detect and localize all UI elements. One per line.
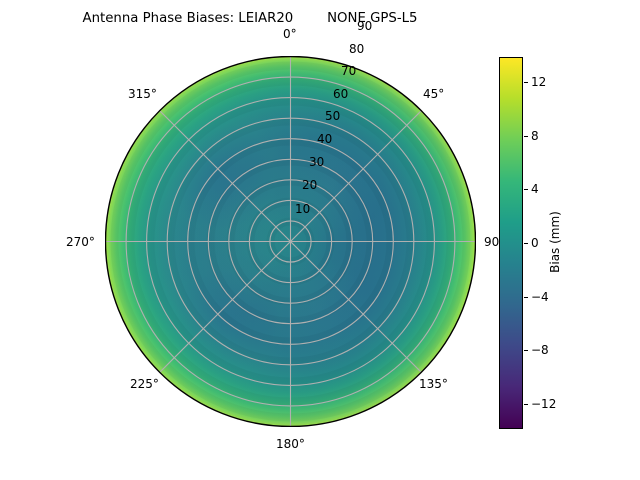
theta-tick-label-90: 90	[484, 235, 499, 249]
colorbar-tick-1	[524, 136, 528, 137]
r-tick-label-10: 10	[295, 202, 310, 216]
polar-grid-spokes	[106, 57, 476, 427]
page-title: Antenna Phase Biases: LEIAR20 NONE GPS-L…	[0, 11, 500, 26]
colorbar-tick-label-5: −8	[531, 343, 549, 357]
colorbar-tick-5	[524, 350, 528, 351]
colorbar-tick-6	[524, 404, 528, 405]
polar-data-surface	[105, 56, 476, 427]
colorbar-gradient	[500, 58, 522, 428]
colorbar-tick-label-0: 12	[531, 75, 546, 89]
colorbar-tick-0	[524, 82, 528, 83]
colorbar-tick-label-3: 0	[531, 236, 539, 250]
r-tick-label-80: 80	[349, 42, 364, 56]
r-tick-label-30: 30	[309, 155, 324, 169]
colorbar-tick-label-2: 4	[531, 182, 539, 196]
r-tick-label-40: 40	[317, 132, 332, 146]
theta-tick-label-315: 315°	[128, 87, 157, 101]
theta-tick-label-225: 225°	[130, 377, 159, 391]
colorbar-axis-label: Bias (mm)	[548, 211, 562, 273]
theta-tick-label-135: 135°	[419, 377, 448, 391]
r-tick-label-20: 20	[302, 178, 317, 192]
colorbar[interactable]: 12840−4−8−12	[499, 57, 523, 429]
theta-tick-label-180: 180°	[276, 437, 305, 451]
colorbar-tick-3	[524, 243, 528, 244]
r-tick-label-60: 60	[333, 87, 348, 101]
colorbar-tick-4	[524, 297, 528, 298]
theta-tick-label-0: 0°	[283, 27, 297, 41]
r-tick-label-90: 90	[357, 19, 372, 33]
r-tick-label-70: 70	[341, 64, 356, 78]
colorbar-tick-label-1: 8	[531, 129, 539, 143]
r-tick-label-50: 50	[325, 109, 340, 123]
theta-tick-label-270: 270°	[66, 235, 95, 249]
colorbar-tick-2	[524, 189, 528, 190]
theta-tick-label-45: 45°	[423, 87, 444, 101]
colorbar-tick-label-4: −4	[531, 290, 549, 304]
colorbar-tick-label-6: −12	[531, 397, 556, 411]
figure-canvas: Antenna Phase Biases: LEIAR20 NONE GPS-L…	[0, 0, 640, 480]
polar-plot[interactable]: 10 20 30 40 50 60 70 80 90	[105, 56, 476, 427]
